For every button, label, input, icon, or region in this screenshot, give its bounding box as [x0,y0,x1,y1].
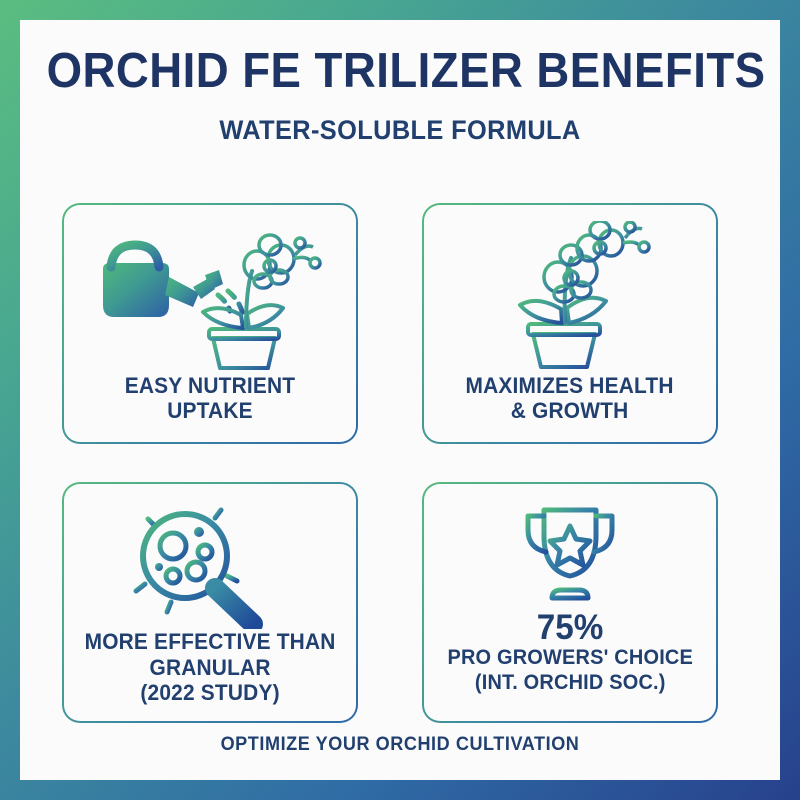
card-label-line: EASY NUTRIENT UPTAKE [81,373,339,424]
card-body: EASY NUTRIENT UPTAKE [64,205,356,442]
stat-percentage: 75% [537,610,604,645]
card-label: MAXIMIZES HEALTH & GROWTH [466,373,674,430]
icon-container [74,498,346,629]
magnifier-microbe-icon [115,504,305,629]
icon-container [434,219,706,373]
card-label-line: GRANULAR [85,655,336,681]
card-label: MORE EFFECTIVE THAN GRANULAR (2022 STUDY… [85,629,336,712]
trophy-star-icon [510,502,630,610]
icon-container [74,219,346,373]
icon-container [434,498,706,610]
card-label-line: (INT. ORCHID SOC.) [447,671,693,696]
card-label: PRO GROWERS' CHOICE (INT. ORCHID SOC.) [447,646,693,701]
footer-tagline: OPTIMIZE YOUR ORCHID CULTIVATION [39,734,761,756]
card-body: 75% PRO GROWERS' CHOICE (INT. ORCHID SOC… [424,484,716,721]
infographic-canvas: ORCHID FE TRILIZER BENEFITS WATER-SOLUBL… [20,20,780,780]
watering-can-orchid-icon [85,221,335,371]
header: ORCHID FE TRILIZER BENEFITS WATER-SOLUBL… [20,20,780,146]
benefit-card-maximizes-health-growth[interactable]: MAXIMIZES HEALTH & GROWTH [422,203,718,444]
benefit-card-easy-nutrient-uptake[interactable]: EASY NUTRIENT UPTAKE [62,203,358,444]
card-label-line: MORE EFFECTIVE THAN [85,629,336,655]
card-body: MAXIMIZES HEALTH & GROWTH [424,205,716,442]
page-title: ORCHID FE TRILIZER BENEFITS [47,46,754,97]
infographic-frame: ORCHID FE TRILIZER BENEFITS WATER-SOLUBL… [0,0,800,800]
potted-orchid-icon [485,221,655,371]
card-label: EASY NUTRIENT UPTAKE [81,373,339,430]
benefit-card-more-effective-than-granular[interactable]: MORE EFFECTIVE THAN GRANULAR (2022 STUDY… [62,482,358,723]
card-label-line: PRO GROWERS' CHOICE [447,646,693,671]
benefit-card-grid: EASY NUTRIENT UPTAKE [62,203,738,723]
benefit-card-pro-growers-choice[interactable]: 75% PRO GROWERS' CHOICE (INT. ORCHID SOC… [422,482,718,723]
page-subtitle: WATER-SOLUBLE FORMULA [43,115,757,146]
card-body: MORE EFFECTIVE THAN GRANULAR (2022 STUDY… [64,484,356,721]
card-label-line: MAXIMIZES HEALTH [466,373,674,399]
card-label-line: (2022 STUDY) [85,680,336,706]
card-label-line: & GROWTH [466,398,674,424]
